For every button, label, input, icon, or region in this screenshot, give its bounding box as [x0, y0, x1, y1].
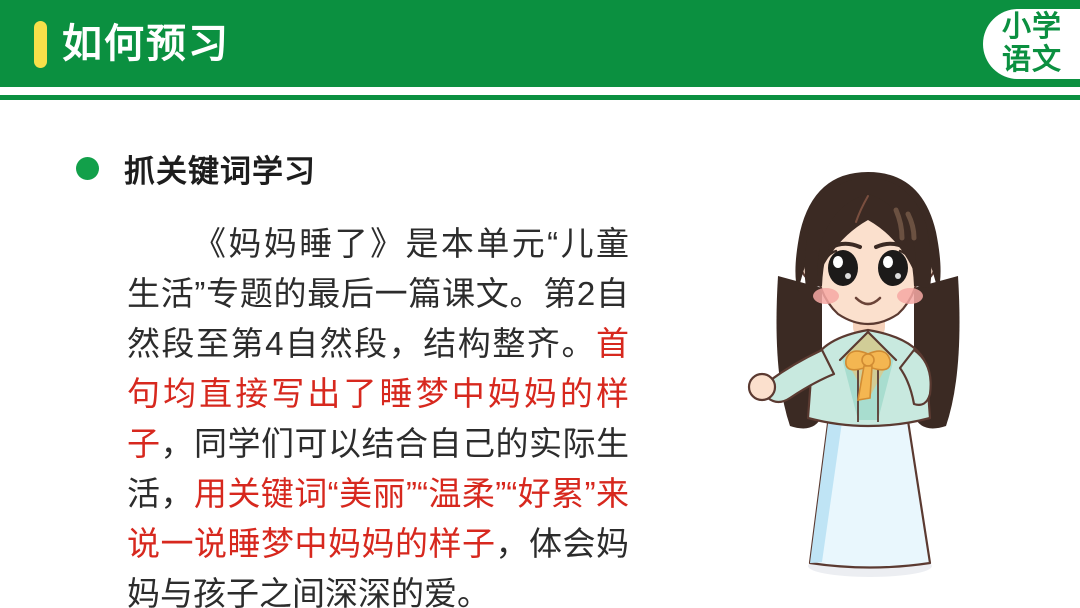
bullet-dot-icon	[76, 157, 99, 180]
slide-root: 如何预习 小学 语文 抓关键词学习 《妈妈睡了》是本单元“儿童生活”专题的最后一…	[0, 0, 1080, 608]
body-paragraph: 《妈妈睡了》是本单元“儿童生活”专题的最后一篇课文。第2自然段至第4自然段，结构…	[127, 219, 629, 608]
subject-badge-line1: 小学	[1000, 11, 1064, 44]
paragraph-segment: 《妈妈睡了》是本单元“儿童生活”专题的最后一篇课文。第2自然段至第4自然段，结构…	[127, 225, 629, 362]
subject-badge-label: 小学 语文	[1000, 11, 1064, 77]
page-title: 如何预习	[62, 17, 230, 71]
section-heading: 抓关键词学习	[76, 146, 316, 191]
subject-badge-line2: 语文	[1000, 44, 1064, 77]
header-underline-rule	[0, 95, 1080, 100]
section-heading-label: 抓关键词学习	[124, 146, 316, 191]
girl-character-illustration	[718, 168, 1018, 598]
title-accent-bar	[34, 21, 47, 68]
